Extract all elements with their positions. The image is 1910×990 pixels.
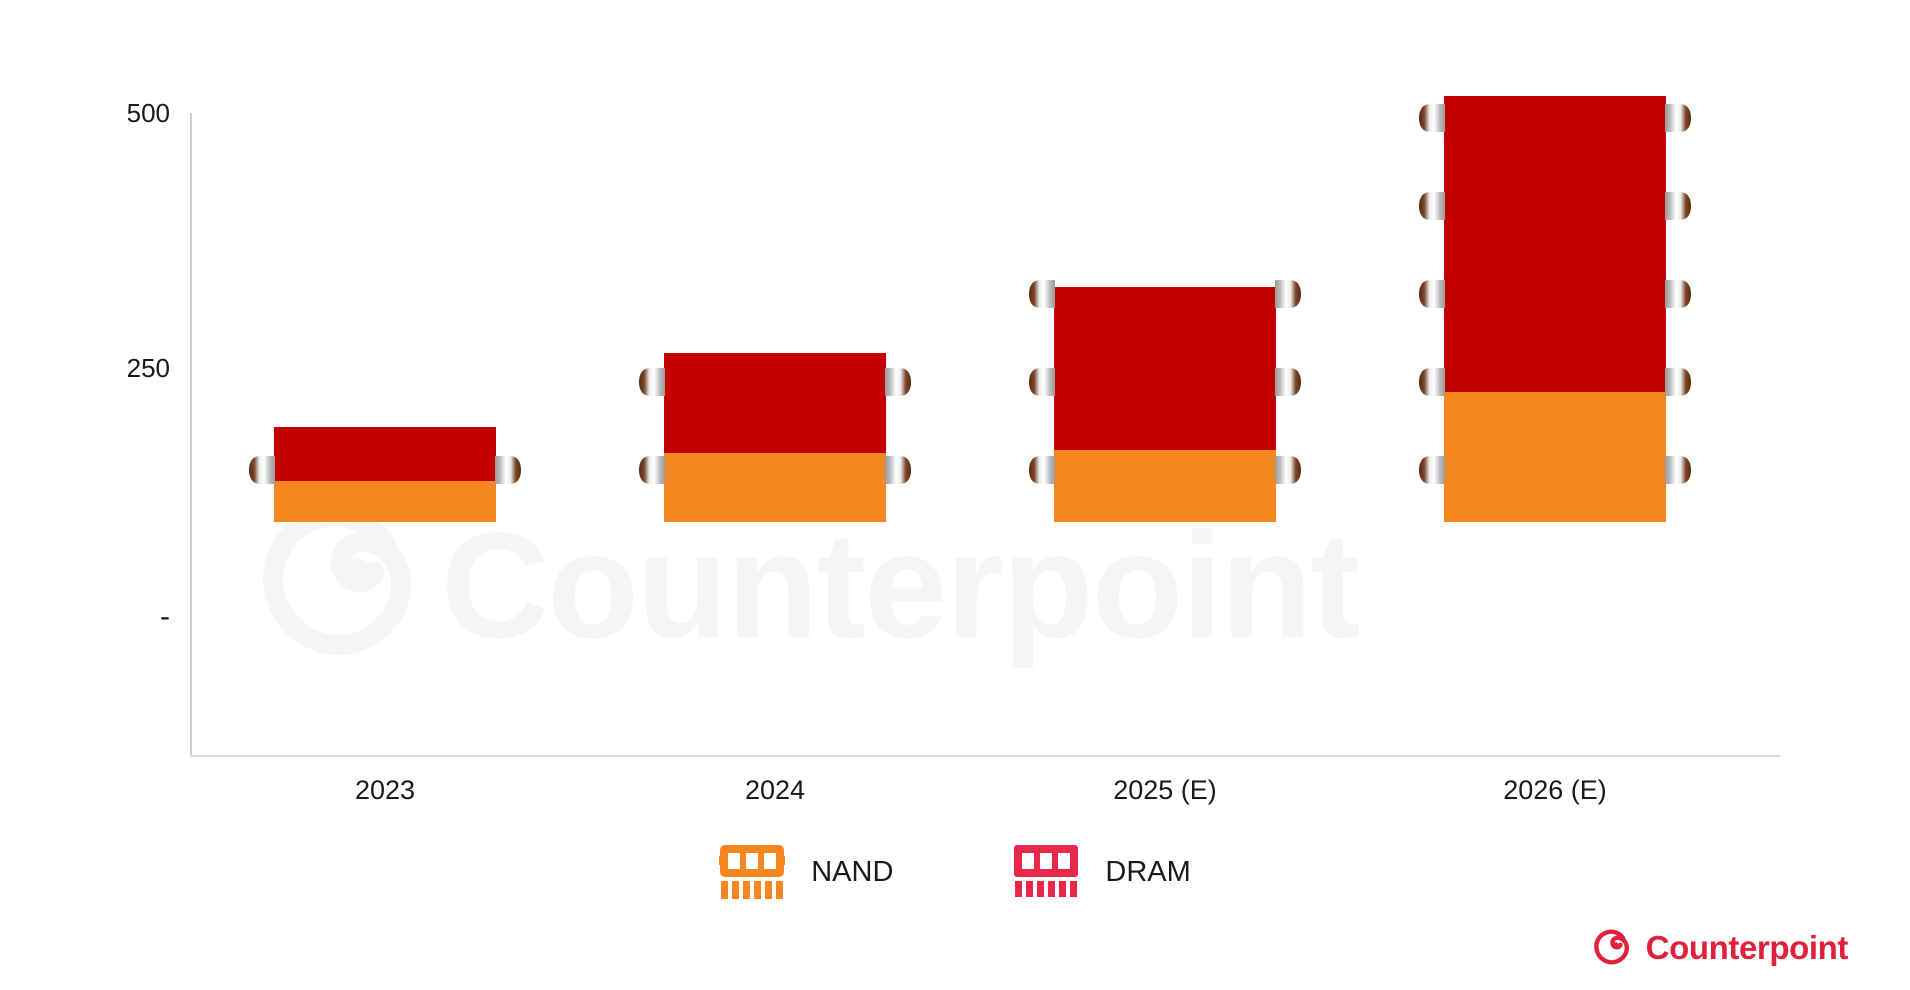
memory-pin-icon: [1419, 455, 1445, 485]
legend-item-nand[interactable]: NAND: [719, 843, 893, 901]
legend-label-nand: NAND: [811, 856, 893, 889]
bar-segment-dram[interactable]: [1054, 287, 1276, 450]
x-tick-label-2025-e: 2025 (E): [1015, 775, 1315, 806]
memory-pin-icon: [495, 455, 521, 485]
memory-pin-icon: [639, 367, 665, 397]
stacked-bar-chart: Counterpoint 500 250 - 2023 2024 2025 (E…: [0, 0, 1910, 990]
x-tick-label-2026-e: 2026 (E): [1405, 775, 1705, 806]
bar-segment-nand[interactable]: [1444, 392, 1666, 522]
stacked-bar: [1054, 287, 1276, 522]
memory-pin-icon: [1419, 279, 1445, 309]
bar-group-2023: [274, 427, 496, 522]
memory-pin-icon: [1419, 367, 1445, 397]
x-tick-label-2023: 2023: [235, 775, 535, 806]
counterpoint-brand: Counterpoint: [1592, 928, 1848, 968]
memory-pin-icon: [1665, 103, 1691, 133]
memory-pin-icon: [639, 455, 665, 485]
memory-pin-icon: [1029, 367, 1055, 397]
memory-pin-icon: [1275, 455, 1301, 485]
bar-segment-nand[interactable]: [1054, 450, 1276, 522]
counterpoint-logo-icon: [1592, 928, 1632, 968]
stacked-bar: [274, 427, 496, 522]
bar-segment-nand[interactable]: [664, 453, 886, 522]
memory-module-icon: [719, 843, 785, 901]
stacked-bar: [664, 353, 886, 522]
brand-name: Counterpoint: [1646, 929, 1848, 967]
memory-pin-icon: [1029, 455, 1055, 485]
chart-legend: NAND DRAM: [0, 843, 1910, 901]
memory-pin-icon: [1275, 367, 1301, 397]
stacked-bar: [1444, 96, 1666, 522]
memory-pin-icon: [1029, 279, 1055, 309]
x-tick-label-2024: 2024: [625, 775, 925, 806]
memory-pin-icon: [1665, 455, 1691, 485]
bar-segment-dram[interactable]: [1444, 96, 1666, 393]
legend-item-dram[interactable]: DRAM: [1013, 843, 1190, 901]
memory-pin-icon: [1665, 279, 1691, 309]
bar-group-2026-e: [1444, 96, 1666, 522]
legend-label-dram: DRAM: [1105, 856, 1190, 889]
bar-group-2025-e: [1054, 287, 1276, 522]
memory-pin-icon: [249, 455, 275, 485]
bars-layer: [190, 0, 1910, 757]
memory-pin-icon: [1419, 191, 1445, 221]
bar-segment-nand[interactable]: [274, 481, 496, 522]
memory-pin-icon: [885, 455, 911, 485]
y-tick-label-250: 250: [50, 353, 170, 384]
memory-pin-icon: [1419, 103, 1445, 133]
y-tick-label-500: 500: [50, 98, 170, 129]
y-tick-label-0: -: [50, 600, 170, 634]
memory-pin-icon: [1665, 191, 1691, 221]
bar-group-2024: [664, 353, 886, 522]
bar-segment-dram[interactable]: [664, 353, 886, 453]
memory-module-icon: [1013, 843, 1079, 901]
memory-pin-icon: [885, 367, 911, 397]
memory-pin-icon: [1275, 279, 1301, 309]
memory-pin-icon: [1665, 367, 1691, 397]
bar-segment-dram[interactable]: [274, 427, 496, 481]
